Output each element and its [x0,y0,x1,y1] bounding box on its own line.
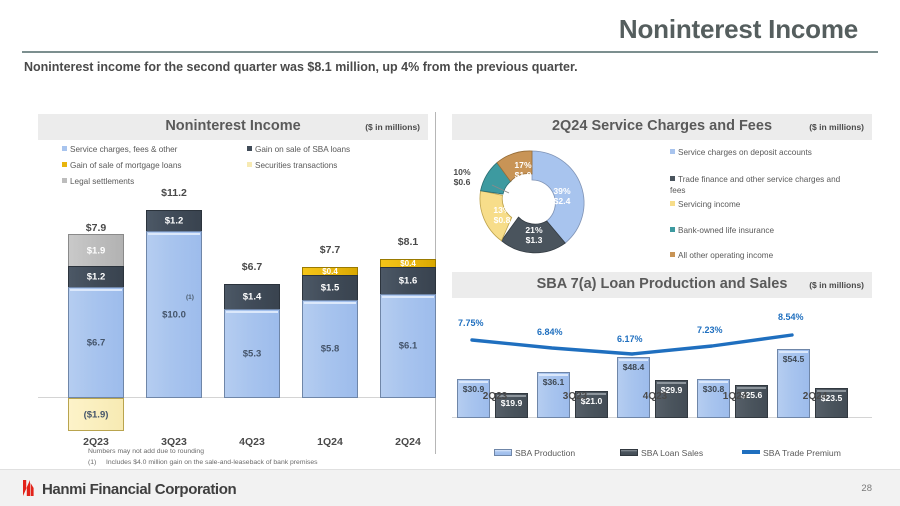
segment-sba-gain: $1.2 [68,266,124,288]
segment-service-charges: $6.1 [380,294,436,398]
legend-item-trade-finance: Trade finance and other service charges … [670,174,850,196]
footnote-number: (1) [88,458,106,469]
legend-item-sba-loan-sales: SBA Loan Sales [620,448,703,458]
legend-swatch-service-charges [62,146,67,151]
donut-label-servicing-income: 13% $0.8 [482,206,522,226]
legend-swatch-legal-settlements [62,178,67,183]
trade-premium-label-4q23: 6.17% [617,334,643,344]
segment-sba-gain: $1.5 [302,275,358,301]
legend-item-service-charges: Service charges, fees & other [62,145,177,154]
donut-label-trade-finance: 21% $1.3 [514,226,554,246]
trade-premium-label-2q23: 7.75% [458,318,484,328]
segment-service-charges: $5.3 [224,309,280,398]
legend-swatch-sba-gain [247,146,252,151]
legend-item-sba-gain: Gain on sale of SBA loans [247,145,350,154]
title-divider [22,51,878,53]
legend-item-sba-trade-premium: SBA Trade Premium [742,448,841,458]
legend-swatch-securities [247,162,252,167]
sba-chart-legend: SBA Production SBA Loan Sales SBA Trade … [452,448,872,464]
legend-swatch-deposit-accounts [670,149,675,154]
footnote-row: Numbers may not add due to rounding [88,447,318,458]
donut-label-deposit-accounts: 39% $2.4 [542,187,582,207]
page-title: Noninterest Income [619,14,858,45]
legend-item-boli: Bank-owned life insurance [670,226,774,235]
trade-premium-label-2q24: 8.54% [778,312,804,322]
segment-service-charges: $5.8 [302,300,358,398]
legend-swatch-boli [670,227,675,232]
legend-swatch-mortgage-gain [62,162,67,167]
company-name: Hanmi Financial Corporation [42,481,236,498]
segment-securities-transactions: ($1.9) [68,398,124,431]
legend-item-securities: Securities transactions [247,161,337,170]
section-units: ($ in millions) [365,122,420,132]
sba-production-bar-2q24: $54.5 [777,349,810,418]
donut-label-other-operating: 17% $1.0 [503,161,543,181]
x-axis-label-4q23: 4Q23 [617,391,693,402]
donut-label-boli: 10% $0.6 [444,168,480,188]
legend-item-mortgage-gain: Gain of sale of mortgage loans [62,161,182,170]
slide-footer: Hanmi Financial Corporation 28 [0,469,900,506]
legend-swatch-other-operating [670,252,675,257]
segment-service-charges: $10.0 [146,231,202,398]
legend-swatch-servicing-income [670,201,675,206]
bar-total-label: $7.9 [68,222,124,234]
service-charges-donut-chart: 39% $2.4 21% $1.3 13% $0.8 10% $0.6 17% … [470,143,595,263]
segment-service-charges: $6.7 [68,287,124,398]
segment-legal-settlements: $1.9 [68,234,124,267]
legend-item-deposit-accounts: Service charges on deposit accounts [670,148,812,157]
noninterest-income-chart: $7.9 $1.9 $1.2 $6.7 ($1.9) 2Q23 $11.2 $1… [38,190,428,440]
segment-sba-gain: $1.2 [146,210,202,232]
legend-swatch-sba-production [494,449,512,456]
footnote-text: Includes $4.0 million gain on the sale-a… [106,459,318,466]
section-units: ($ in millions) [809,122,864,132]
trade-premium-label-1q24: 7.23% [697,325,723,335]
legend-swatch-trade-finance [670,176,675,181]
bar-total-label: $11.2 [146,187,202,199]
x-axis-label-2q23: 2Q23 [457,391,533,402]
bar-total-label: $6.7 [224,261,280,273]
x-axis-label-3q23: 3Q23 [537,391,613,402]
page-subtitle: Noninterest income for the second quarte… [24,60,578,74]
section-units: ($ in millions) [809,280,864,290]
footnote-text: Numbers may not add due to rounding [88,448,204,455]
chart-footnotes: Numbers may not add due to rounding (1)I… [88,447,318,468]
section-header-sba-loan-production: SBA 7(a) Loan Production and Sales ($ in… [452,272,872,298]
bar-total-label: $7.7 [302,244,358,256]
legend-item-servicing-income: Servicing income [670,200,740,209]
legend-swatch-sba-trade-premium [742,450,760,454]
hanmi-m-mark-icon [22,479,38,497]
x-axis-label-1q24: 1Q24 [697,391,773,402]
bar-total-label: $8.1 [380,236,436,248]
page-number: 28 [861,483,872,494]
x-axis-label-2q24: 2Q24 [380,436,436,448]
section-header-noninterest-income: Noninterest Income ($ in millions) [38,114,428,140]
legend-item-legal-settlements: Legal settlements [62,177,134,186]
sba-loan-production-chart: 7.75% 6.84% 6.17% 7.23% 8.54% $30.9 $19.… [452,310,872,460]
legend-swatch-sba-loan-sales [620,449,638,456]
x-axis-label-2q24: 2Q24 [777,391,853,402]
footnote-marker: (1) [186,294,194,301]
legend-item-other-operating: All other operating income [670,251,773,260]
sba-production-bar-4q23: $48.4 [617,357,650,418]
segment-sba-gain: $1.4 [224,284,280,310]
hanmi-logo-icon [22,479,38,502]
section-header-service-charges: 2Q24 Service Charges and Fees ($ in mill… [452,114,872,140]
footnote-row: (1)Includes $4.0 million gain on the sal… [88,458,318,469]
trade-premium-label-3q23: 6.84% [537,327,563,337]
legend-item-sba-production: SBA Production [494,448,575,458]
segment-sba-gain: $1.6 [380,267,436,295]
company-logo: Hanmi Financial Corporation [22,479,236,502]
